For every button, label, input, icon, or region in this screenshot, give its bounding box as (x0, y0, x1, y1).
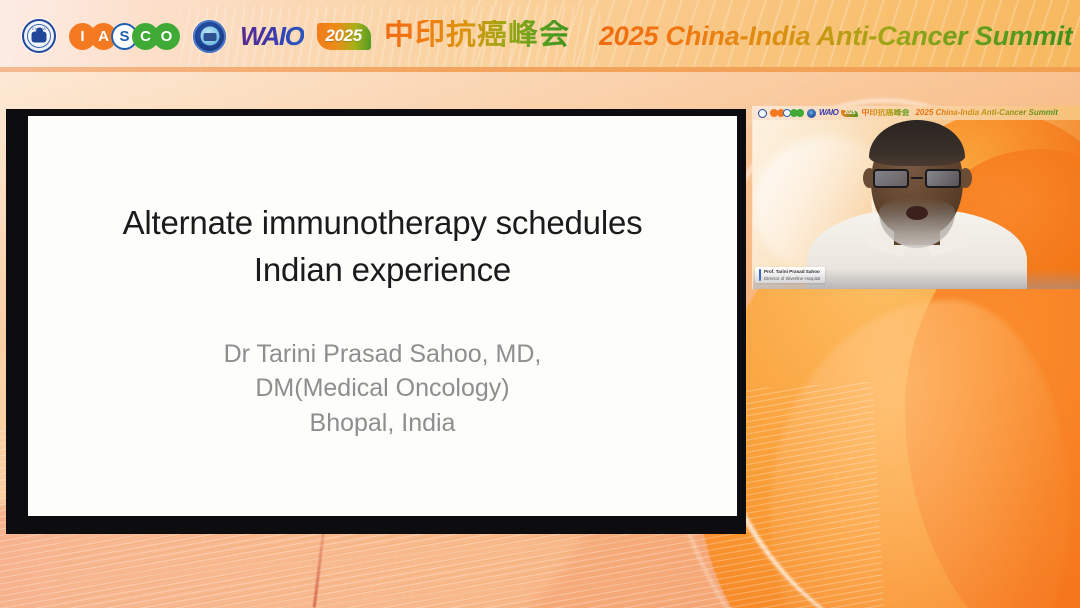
iasco-letter-o: O (153, 23, 180, 50)
video-iasco-dot-5 (796, 109, 804, 117)
glasses-lens-left (873, 169, 909, 188)
slide-title-line-2: Indian experience (123, 247, 643, 294)
event-banner: CHINA I A S C O WAIO 2025 中印抗癌峰会 2025 Ch… (0, 0, 1080, 72)
year-badge: 2025 (317, 23, 371, 50)
video-cma-seal-icon (758, 109, 767, 118)
video-mini-banner: WAIO 2025 中印抗癌峰会 2025 China-India Anti-C… (753, 106, 1080, 120)
speaker-video-tile[interactable]: WAIO 2025 中印抗癌峰会 2025 China-India Anti-C… (752, 106, 1080, 289)
glasses-bridge (911, 177, 923, 179)
video-waio-wordmark: WAIO (819, 109, 838, 117)
cma-seal-core (32, 32, 47, 43)
slide-subtitle-line-2: DM(Medical Oncology) (224, 371, 542, 406)
slide-subtitle-line-1: Dr Tarini Prasad Sahoo, MD, (224, 337, 542, 372)
banner-bottom-edge (0, 67, 1080, 72)
speaker-mouth (906, 206, 928, 220)
video-globe-icon (807, 109, 816, 118)
glasses-lens-right (925, 169, 961, 188)
waio-wordmark: WAIO (239, 23, 304, 49)
screen-root: CHINA I A S C O WAIO 2025 中印抗癌峰会 2025 Ch… (0, 0, 1080, 608)
iasco-logo: I A S C O (69, 23, 180, 50)
slide-subtitle-line-3: Bhopal, India (224, 406, 542, 441)
video-iasco-logo (770, 109, 804, 117)
slide-page: Alternate immunotherapy schedules Indian… (28, 116, 737, 516)
cma-seal-icon: CHINA (22, 19, 56, 53)
slide-subtitle: Dr Tarini Prasad Sahoo, MD, DM(Medical O… (224, 337, 542, 441)
banner-title-english: 2025 China-India Anti-Cancer Summit (599, 23, 1073, 50)
slide-title-line-1: Alternate immunotherapy schedules (123, 200, 643, 247)
video-title-chinese: 中印抗癌峰会 (861, 109, 909, 117)
video-bottom-fade (753, 269, 1080, 289)
globe-icon (193, 20, 226, 53)
banner-title-chinese: 中印抗癌峰会 (384, 20, 570, 53)
slide-frame[interactable]: Alternate immunotherapy schedules Indian… (6, 109, 746, 534)
slide-title: Alternate immunotherapy schedules Indian… (123, 200, 643, 294)
glasses-icon (873, 168, 961, 188)
video-title-english: 2025 China-India Anti-Cancer Summit (915, 109, 1057, 117)
video-year-badge: 2025 (841, 110, 858, 117)
